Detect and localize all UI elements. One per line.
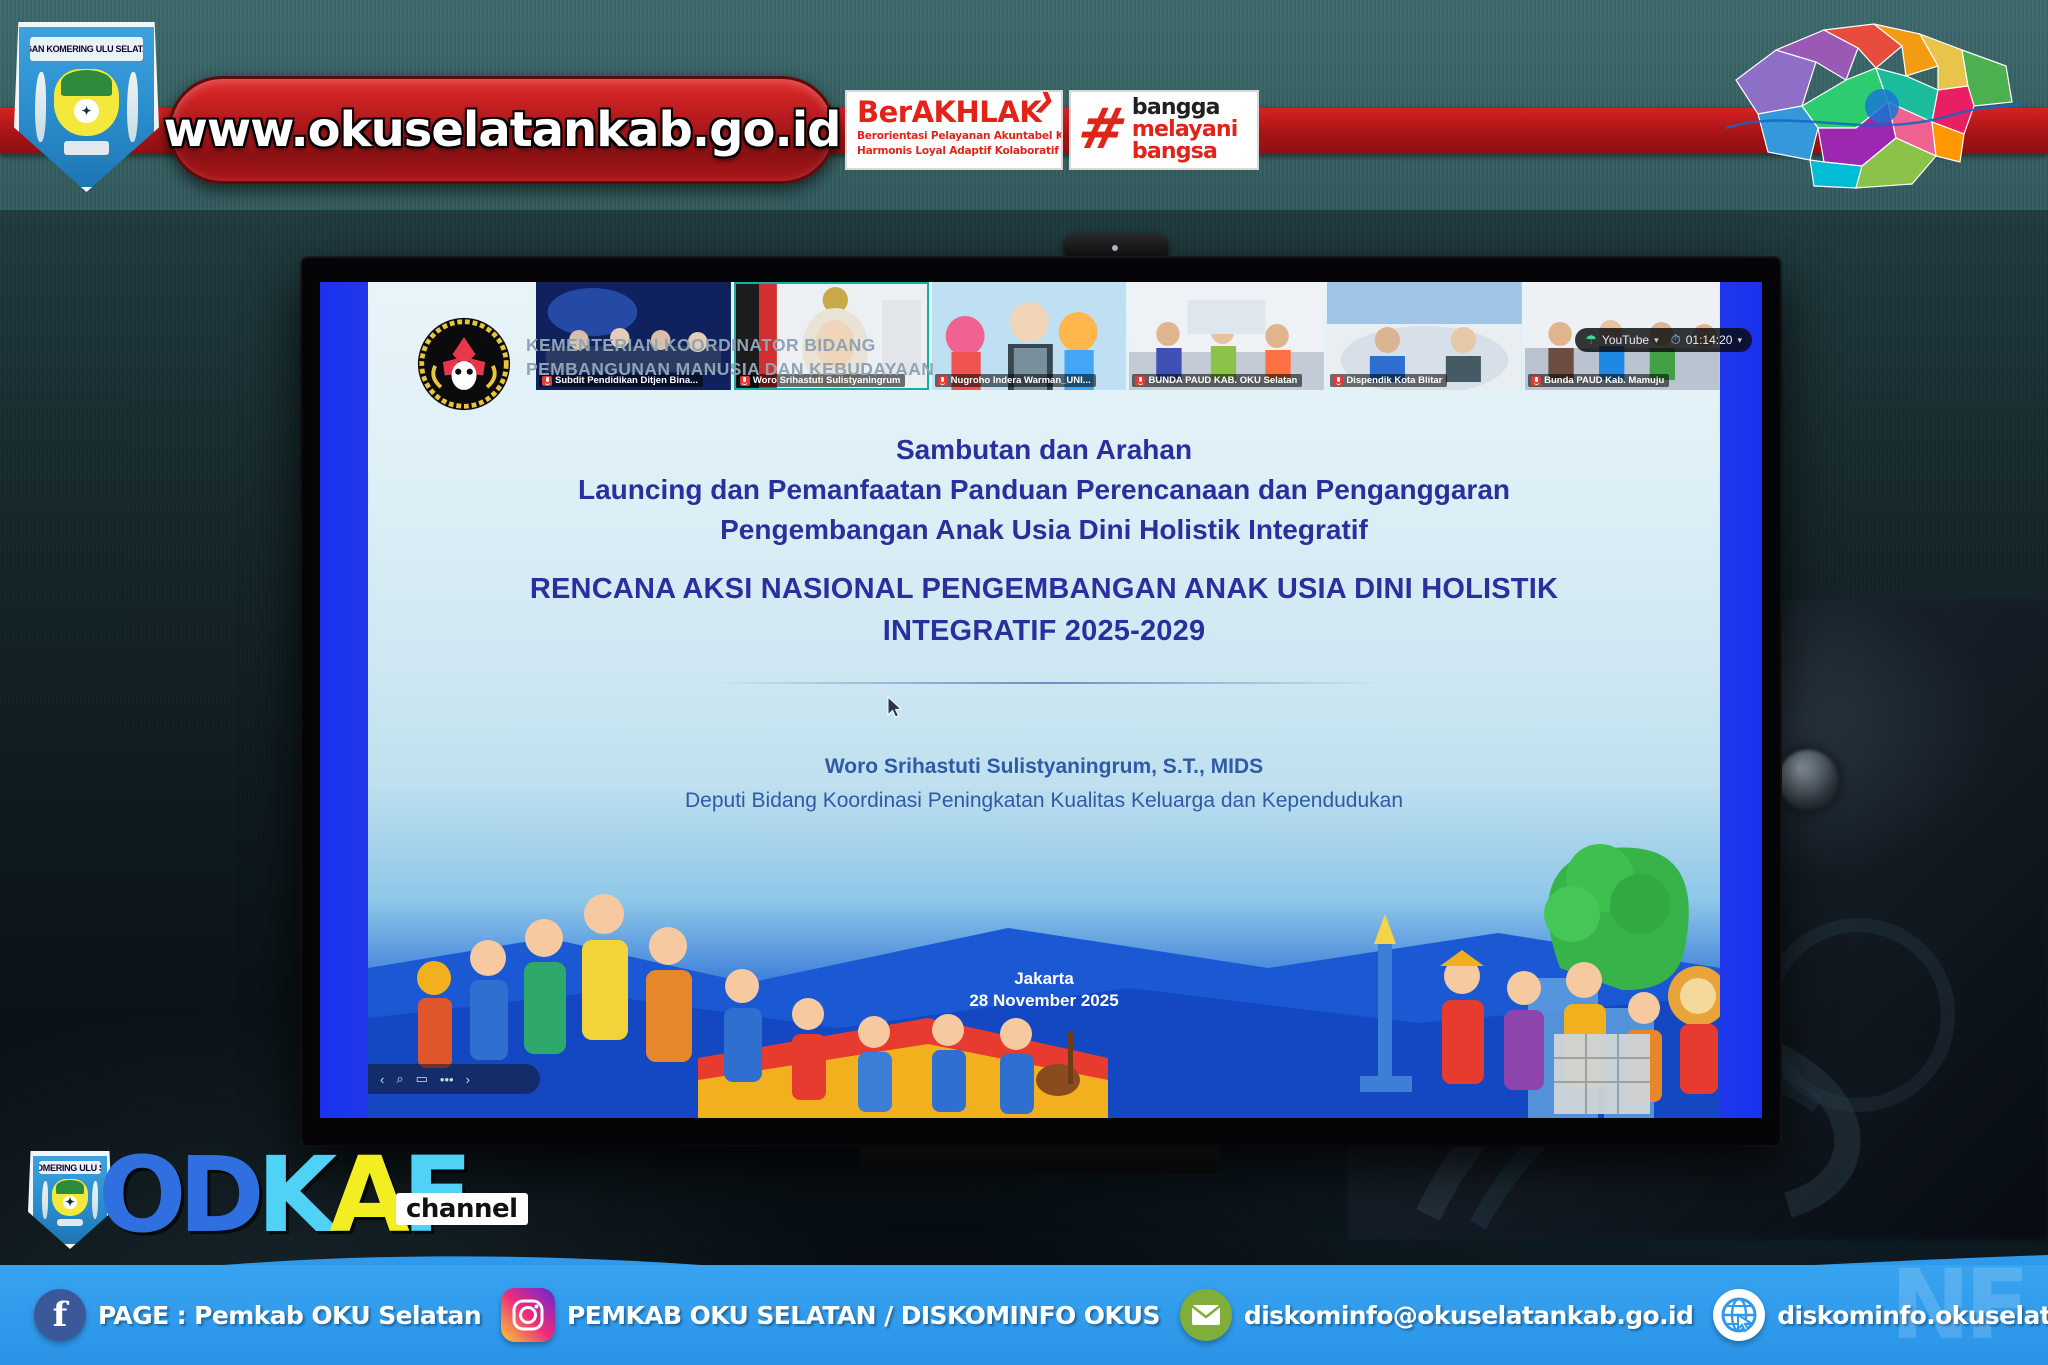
television-display: KEMENTERIAN KOORDINATOR BIDANG PEMBANGUN… <box>302 258 1780 1145</box>
instagram-icon[interactable] <box>501 1288 555 1342</box>
crest-mountain <box>61 70 112 96</box>
facebook-glyph: f <box>53 1298 68 1332</box>
slide-subtitle-line-2: Launcing dan Pemanfaatan Panduan Perenca… <box>368 470 1720 510</box>
berakhlak-tagline-2: Harmonis Loyal Adaptif Kolaboratif <box>857 145 1053 157</box>
website-url-text: www.okuselatankab.go.id <box>163 102 840 158</box>
slide-subtitle-line-1: Sambutan dan Arahan <box>368 430 1720 470</box>
speaker-name: Woro Srihastuti Sulistyaningrum, S.T., M… <box>368 750 1720 784</box>
crest-ribbon-label: OGAN KOMERING ULU SELATAN <box>39 1161 101 1174</box>
berakhlak-suffix: AKHLAK <box>912 95 1042 129</box>
participant-name-badge: BUNDA PAUD KAB. OKU Selatan <box>1132 374 1302 387</box>
website-address-text: diskominfo.okuselatankab.go.id <box>1777 1301 2048 1330</box>
crest-emblem: ✦ <box>74 99 98 123</box>
mic-muted-icon <box>938 376 948 386</box>
instagram-contact[interactable]: PEMKAB OKU SELATAN / DISKOMINFO OKUS <box>501 1288 1160 1342</box>
slide-title-line-2: INTEGRATIF 2025-2029 <box>368 610 1720 652</box>
slide-title-line-1: RENCANA AKSI NASIONAL PENGEMBANGAN ANAK … <box>368 568 1720 610</box>
crest-emblem: ✦ <box>63 1196 76 1209</box>
presentation-mode-icon[interactable]: ▭ <box>416 1071 428 1087</box>
dkaf-letter-a: A <box>329 1134 402 1256</box>
globe-icon[interactable] <box>1713 1289 1765 1341</box>
crest-base <box>57 1219 82 1227</box>
place-and-date: Jakarta 28 November 2025 <box>368 968 1720 1012</box>
slide-title: RENCANA AKSI NASIONAL PENGEMBANGAN ANAK … <box>368 568 1720 652</box>
dkaf-letter-k: K <box>257 1134 330 1256</box>
participant-name: BUNDA PAUD KAB. OKU Selatan <box>1148 375 1297 386</box>
clock-icon: ⏱ <box>1671 332 1681 348</box>
bangga-wordmark: bangga melayani bangsa <box>1132 97 1238 163</box>
more-options-icon[interactable]: ••• <box>440 1072 454 1087</box>
participant-tile[interactable]: Dispendik Kota Blitar <box>1327 282 1522 390</box>
wifi-icon: ☂ <box>1585 332 1597 348</box>
organization-name: KEMENTERIAN KOORDINATOR BIDANG PEMBANGUN… <box>526 334 934 381</box>
website-url-pill[interactable]: www.okuselatankab.go.id <box>168 76 836 184</box>
mouse-cursor-icon <box>886 696 904 720</box>
tv-screen: KEMENTERIAN KOORDINATOR BIDANG PEMBANGUN… <box>320 282 1762 1118</box>
top-banner: OGAN KOMERING ULU SELATAN ✦ www.okuselat… <box>0 0 2048 215</box>
slide-subtitle: Sambutan dan Arahan Launcing dan Pemanfa… <box>368 430 1720 549</box>
stream-status-bar[interactable]: ☂ YouTube ▾ ⏱ 01:14:20 ▾ <box>1575 328 1752 352</box>
dkaf-channel-logo: OGAN KOMERING ULU SELATAN ✦ ODKAF channe… <box>14 1145 554 1265</box>
chevron-down-icon[interactable]: ▾ <box>1654 335 1659 346</box>
participant-tile[interactable]: Nugroho Indera Warman_UNI... <box>932 282 1127 390</box>
kemenko-pmk-logo <box>416 316 512 412</box>
speaker-role: Deputi Bidang Koordinasi Peningkatan Kua… <box>368 784 1720 818</box>
email-contact[interactable]: diskominfo@okuselatankab.go.id <box>1180 1289 1693 1341</box>
stone-structure <box>1554 1034 1650 1114</box>
slide-subtitle-line-3: Pengembangan Anak Usia Dini Holistik Int… <box>368 510 1720 550</box>
bangga-melayani-bangsa-logo: # bangga melayani bangsa <box>1069 90 1259 170</box>
crest-leaf-left <box>42 1181 48 1220</box>
dkaf-letter-o: O <box>98 1134 178 1256</box>
email-icon[interactable] <box>1180 1289 1232 1341</box>
participant-name-badge: Dispendik Kota Blitar <box>1330 374 1447 387</box>
participant-name-badge: Bunda PAUD Kab. Mamuju <box>1528 374 1669 387</box>
bangga-line-1: bangga <box>1132 97 1238 119</box>
instagram-glyph <box>511 1298 545 1332</box>
meeting-timer[interactable]: ⏱ 01:14:20 ▾ <box>1671 332 1742 348</box>
zoom-icon[interactable]: ⌕ <box>396 1071 403 1087</box>
organization-line-2: PEMBANGUNAN MANUSIA DAN KEBUDAYAAN <box>526 358 934 382</box>
berakhlak-wordmark: BerAKHLAK ❯ <box>857 98 1041 127</box>
participant-name: Bunda PAUD Kab. Mamuju <box>1544 375 1664 386</box>
email-address-text: diskominfo@okuselatankab.go.id <box>1244 1301 1693 1330</box>
elapsed-time: 01:14:20 <box>1686 333 1733 347</box>
berakhlak-tick-icon: ❯ <box>1032 90 1057 114</box>
dkaf-channel-label: channel <box>396 1193 528 1225</box>
crest-base <box>64 141 110 155</box>
hashtag-icon: # <box>1074 106 1131 154</box>
mic-muted-icon <box>1333 376 1343 386</box>
crest-ribbon-label: OGAN KOMERING ULU SELATAN <box>30 37 143 61</box>
presentation-slide: KEMENTERIAN KOORDINATOR BIDANG PEMBANGUN… <box>368 282 1720 1118</box>
mic-muted-icon <box>1531 376 1541 386</box>
screenshot-root: OGAN KOMERING ULU SELATAN ✦ www.okuselat… <box>0 0 2048 1365</box>
slide-divider <box>708 682 1388 684</box>
pdf-viewer-toolbar[interactable]: ‹ ⌕ ▭ ••• › <box>368 1064 540 1094</box>
berakhlak-logo: BerAKHLAK ❯ Berorientasi Pelayanan Akunt… <box>845 90 1063 170</box>
crest-leaf-right <box>127 72 138 142</box>
website-contact[interactable]: diskominfo.okuselatankab.go.id <box>1713 1289 2048 1341</box>
crest-mountain <box>56 1180 84 1194</box>
chevron-down-icon[interactable]: ▾ <box>1737 335 1742 346</box>
bangga-line-3: bangsa <box>1132 141 1238 163</box>
organization-line-1: KEMENTERIAN KOORDINATOR BIDANG <box>526 334 934 358</box>
facebook-contact[interactable]: f PAGE : Pemkab OKU Selatan <box>34 1289 481 1341</box>
dkaf-letter-d: D <box>178 1134 256 1256</box>
footer-contact-row: f PAGE : Pemkab OKU Selatan PEMKAB OKU S… <box>0 1265 2048 1365</box>
berakhlak-tagline-1: Berorientasi Pelayanan Akuntabel Kompete… <box>857 130 1053 142</box>
youtube-label: YouTube <box>1602 333 1649 347</box>
youtube-stream-indicator[interactable]: ☂ YouTube ▾ <box>1585 332 1658 348</box>
facebook-icon[interactable]: f <box>34 1289 86 1341</box>
mic-muted-icon <box>1135 376 1145 386</box>
instagram-handle-text: PEMKAB OKU SELATAN / DISKOMINFO OKUS <box>567 1301 1160 1330</box>
bangga-line-2: melayani <box>1132 119 1238 141</box>
zoom-meeting-frame: KEMENTERIAN KOORDINATOR BIDANG PEMBANGUN… <box>320 282 1762 1118</box>
tv-stand <box>860 1145 1220 1173</box>
berakhlak-prefix: Ber <box>857 95 912 129</box>
equipment-knob <box>1778 750 1838 810</box>
next-page-icon[interactable]: › <box>466 1072 470 1087</box>
slide-date: 28 November 2025 <box>368 990 1720 1012</box>
oku-selatan-district-map <box>1706 10 2036 200</box>
previous-page-icon[interactable]: ‹ <box>380 1072 384 1087</box>
participant-name: Dispendik Kota Blitar <box>1346 375 1442 386</box>
slide-place: Jakarta <box>368 968 1720 990</box>
participant-tile[interactable]: BUNDA PAUD KAB. OKU Selatan <box>1129 282 1324 390</box>
envelope-glyph <box>1191 1304 1221 1326</box>
participant-name: Nugroho Indera Warman_UNI... <box>951 375 1091 386</box>
participant-name-badge: Nugroho Indera Warman_UNI... <box>935 374 1096 387</box>
crest-leaf-left <box>35 72 46 142</box>
globe-glyph <box>1719 1295 1759 1335</box>
okus-crest-logo: OGAN KOMERING ULU SELATAN ✦ <box>14 22 159 192</box>
speaker-info: Woro Srihastuti Sulistyaningrum, S.T., M… <box>368 750 1720 817</box>
facebook-page-text: PAGE : Pemkab OKU Selatan <box>98 1301 481 1330</box>
